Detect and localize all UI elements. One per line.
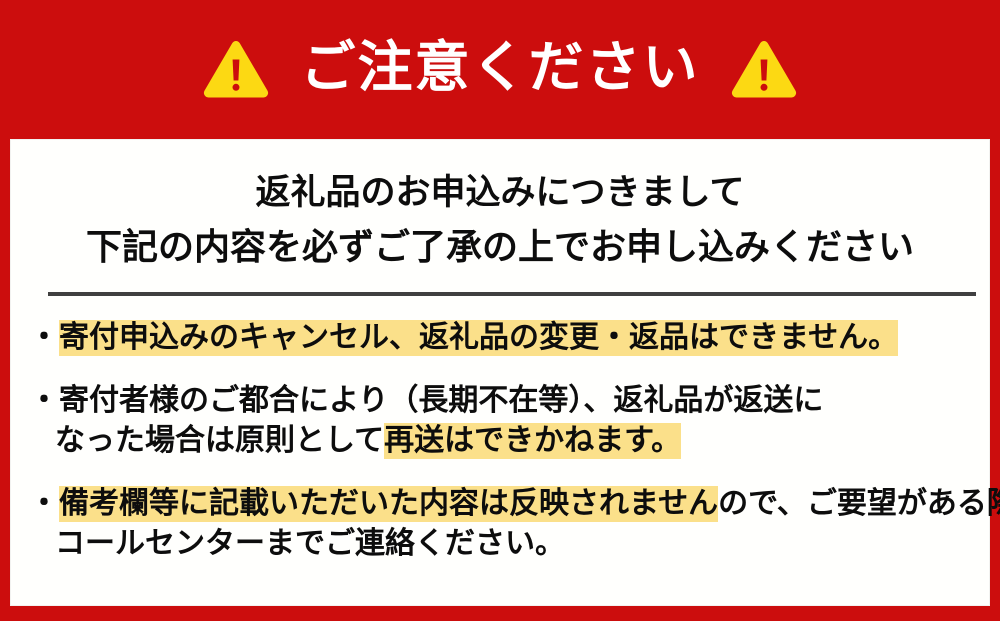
plain-text: 寄付者様のご都合により（長期不在等）、返礼品が返送に <box>59 383 823 418</box>
content-panel: 返礼品のお申込みにつきまして 下記の内容を必ずご了承の上でお申し込みください ・… <box>10 139 990 606</box>
bullet-line: ・寄付申込みのキャンセル、返礼品の変更・返品はできません。 <box>29 318 991 359</box>
bullet-marker: ・ <box>29 484 59 525</box>
plain-text: なった場合は原則として <box>55 423 384 458</box>
list-item: ・備考欄等に記載いただいた内容は反映されませんので、ご要望がある際は コールセン… <box>29 484 991 565</box>
bullet-marker: ・ <box>29 381 59 422</box>
bullet-line: ・備考欄等に記載いただいた内容は反映されませんので、ご要望がある際は <box>29 484 991 525</box>
warning-triangle-icon <box>202 39 270 101</box>
banner-header: ご注意ください <box>0 0 1000 139</box>
highlighted-text: 寄付申込みのキャンセル、返礼品の変更・返品はできません。 <box>59 320 898 356</box>
subtitle-line-2: 下記の内容を必ずご了承の上でお申し込みください <box>11 220 989 276</box>
list-item: ・寄付申込みのキャンセル、返礼品の変更・返品はできません。 <box>29 318 991 359</box>
highlighted-text: 備考欄等に記載いただいた内容は反映されません <box>59 486 718 522</box>
bullet-line: ・寄付者様のご都合により（長期不在等）、返礼品が返送に <box>29 381 991 422</box>
section-divider <box>48 292 976 296</box>
list-item: ・寄付者様のご都合により（長期不在等）、返礼品が返送に なった場合は原則として再… <box>29 381 991 462</box>
warning-triangle-icon <box>730 39 798 101</box>
plain-text: ので、ご要望がある際は <box>718 486 1000 521</box>
bullet-line: コールセンターまでご連絡ください。 <box>29 524 991 565</box>
notice-bullet-list: ・寄付申込みのキャンセル、返礼品の変更・返品はできません。 ・寄付者様のご都合に… <box>29 318 991 565</box>
bullet-line: なった場合は原則として再送はできかねます。 <box>29 421 991 462</box>
subtitle-line-1: 返礼品のお申込みにつきまして <box>11 166 989 220</box>
page-title: ご注意ください <box>300 40 699 95</box>
bullet-marker: ・ <box>29 318 59 359</box>
subtitle-block: 返礼品のお申込みにつきまして 下記の内容を必ずご了承の上でお申し込みください <box>11 140 989 276</box>
highlighted-text: 再送はできかねます。 <box>384 423 681 459</box>
plain-text: コールセンターまでご連絡ください。 <box>55 526 565 561</box>
notice-banner: ご注意ください 返礼品のお申込みにつきまして 下記の内容を必ずご了承の上でお申し… <box>0 0 1000 621</box>
